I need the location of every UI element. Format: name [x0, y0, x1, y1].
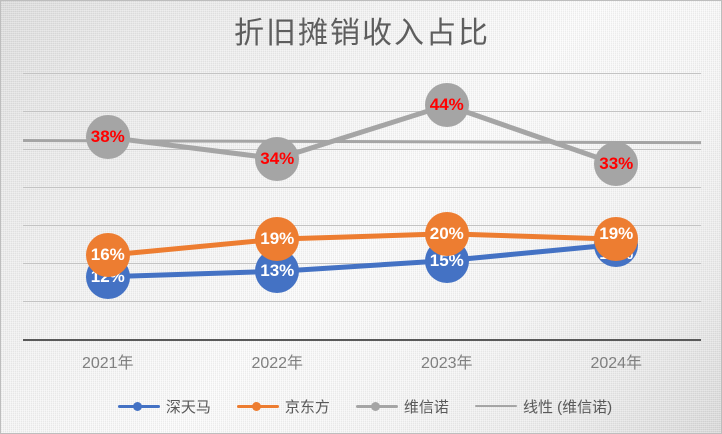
- data-point-marker: 20%: [425, 212, 469, 256]
- data-label: 33%: [599, 154, 633, 174]
- data-label: 19%: [599, 224, 633, 244]
- legend-item-0[interactable]: 深天马: [118, 396, 211, 417]
- legend-swatch-icon: [237, 400, 279, 412]
- x-axis-tick-0: 2021年: [82, 349, 134, 373]
- legend-swatch-icon: [118, 400, 160, 412]
- x-axis-labels: 2021年2022年2023年2024年: [23, 349, 701, 375]
- chart-legend: 深天马京东方维信诺线性 (维信诺): [85, 391, 645, 421]
- data-label: 19%: [260, 229, 294, 249]
- legend-label: 深天马: [166, 396, 211, 417]
- data-label: 38%: [91, 127, 125, 147]
- data-point-marker: 38%: [86, 115, 130, 159]
- data-point-marker: 44%: [425, 83, 469, 127]
- data-label: 20%: [430, 224, 464, 244]
- legend-swatch-icon: [356, 400, 398, 412]
- x-axis-line: [23, 339, 701, 341]
- legend-swatch-icon: [475, 400, 517, 412]
- plot-area: 12%13%15%18%16%19%20%19%38%34%44%33%: [23, 73, 701, 341]
- legend-item-2[interactable]: 维信诺: [356, 396, 449, 417]
- legend-item-1[interactable]: 京东方: [237, 396, 330, 417]
- x-axis-tick-2: 2023年: [421, 349, 473, 373]
- data-point-marker: 34%: [255, 137, 299, 181]
- data-label: 13%: [260, 261, 294, 281]
- plot-lines: [23, 73, 701, 341]
- data-label: 44%: [430, 95, 464, 115]
- chart-card: 折旧摊销收入占比 12%13%15%18%16%19%20%19%38%34%4…: [0, 0, 722, 434]
- series-line-2: [108, 105, 617, 164]
- data-point-marker: 16%: [86, 233, 130, 277]
- legend-label: 线性 (维信诺): [523, 396, 612, 417]
- x-axis-tick-1: 2022年: [251, 349, 303, 373]
- data-label: 34%: [260, 149, 294, 169]
- data-label: 16%: [91, 245, 125, 265]
- legend-item-3[interactable]: 线性 (维信诺): [475, 396, 612, 417]
- legend-label: 京东方: [285, 396, 330, 417]
- x-axis-tick-3: 2024年: [590, 349, 642, 373]
- legend-label: 维信诺: [404, 396, 449, 417]
- chart-title: 折旧摊销收入占比: [1, 14, 722, 54]
